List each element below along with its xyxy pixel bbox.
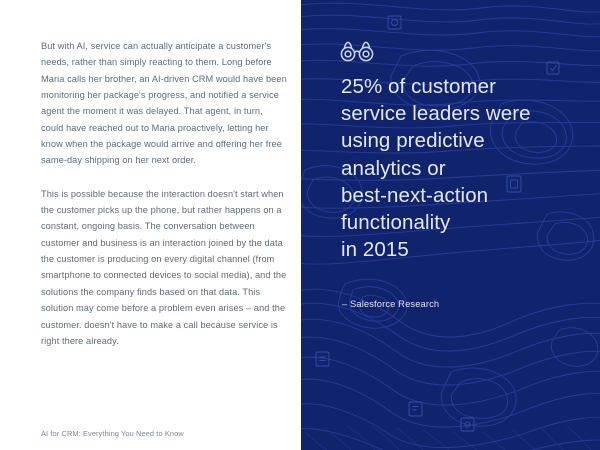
callout-panel: 25% of customer service leaders were usi…	[301, 0, 600, 450]
left-text-column: But with AI, service can actually antici…	[0, 0, 301, 450]
binoculars-icon	[340, 39, 374, 63]
body-copy-block: But with AI, service can actually antici…	[41, 38, 287, 366]
body-paragraph-2: This is possible because the interaction…	[41, 186, 287, 349]
page-footer-title: AI for CRM: Everything You Need to Know	[41, 428, 184, 439]
statistic-quote: 25% of customer service leaders were usi…	[341, 73, 581, 263]
callout-content: 25% of customer service leaders were usi…	[301, 0, 600, 450]
body-paragraph-1: But with AI, service can actually antici…	[41, 38, 287, 169]
quote-attribution: – Salesforce Research	[342, 297, 439, 311]
ebook-page-spread: But with AI, service can actually antici…	[0, 0, 600, 450]
